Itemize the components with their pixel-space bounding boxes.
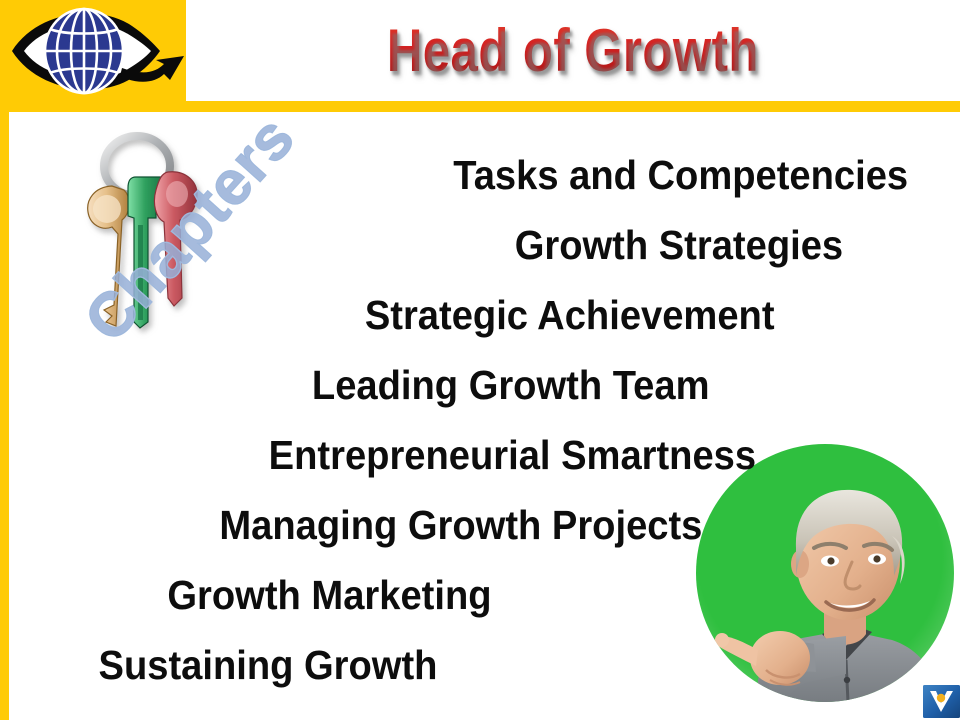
chapter-label: Leading Growth Team <box>311 362 709 408</box>
v-logo-badge-icon <box>923 685 960 718</box>
logo-block <box>0 0 186 101</box>
chapter-label: Growth Marketing <box>168 572 492 618</box>
presenter-figure-icon <box>696 444 960 720</box>
chapter-label: Growth Strategies <box>515 222 843 268</box>
left-accent-border <box>0 112 9 720</box>
list-item[interactable]: Growth Marketing <box>168 574 492 616</box>
list-item[interactable]: Leading Growth Team <box>311 364 709 406</box>
chapter-label: Tasks and Competencies <box>453 152 908 198</box>
chapter-label: Managing Growth Projects <box>219 502 702 548</box>
presenter-photo <box>696 444 960 720</box>
list-item[interactable]: Tasks and Competencies <box>453 154 908 196</box>
chapter-label: Strategic Achievement <box>365 292 775 338</box>
page-title: Head of Growth <box>387 21 759 81</box>
slide-body: Chapters <box>9 112 960 720</box>
slide-header: Head of Growth <box>0 0 960 101</box>
list-item[interactable]: Sustaining Growth <box>98 644 437 686</box>
chapter-label: Entrepreneurial Smartness <box>269 432 756 478</box>
list-item[interactable]: Strategic Achievement <box>365 294 775 336</box>
header-divider-bar <box>0 101 960 112</box>
title-container: Head of Growth <box>186 0 960 101</box>
keyring-keys-icon <box>64 130 234 345</box>
slide-canvas: Head of Growth <box>0 0 960 720</box>
eye-globe-logo-icon <box>4 4 186 98</box>
chapter-label: Sustaining Growth <box>98 642 437 688</box>
list-item[interactable]: Entrepreneurial Smartness <box>269 434 756 476</box>
list-item[interactable]: Managing Growth Projects <box>219 504 702 546</box>
list-item[interactable]: Growth Strategies <box>515 224 843 266</box>
